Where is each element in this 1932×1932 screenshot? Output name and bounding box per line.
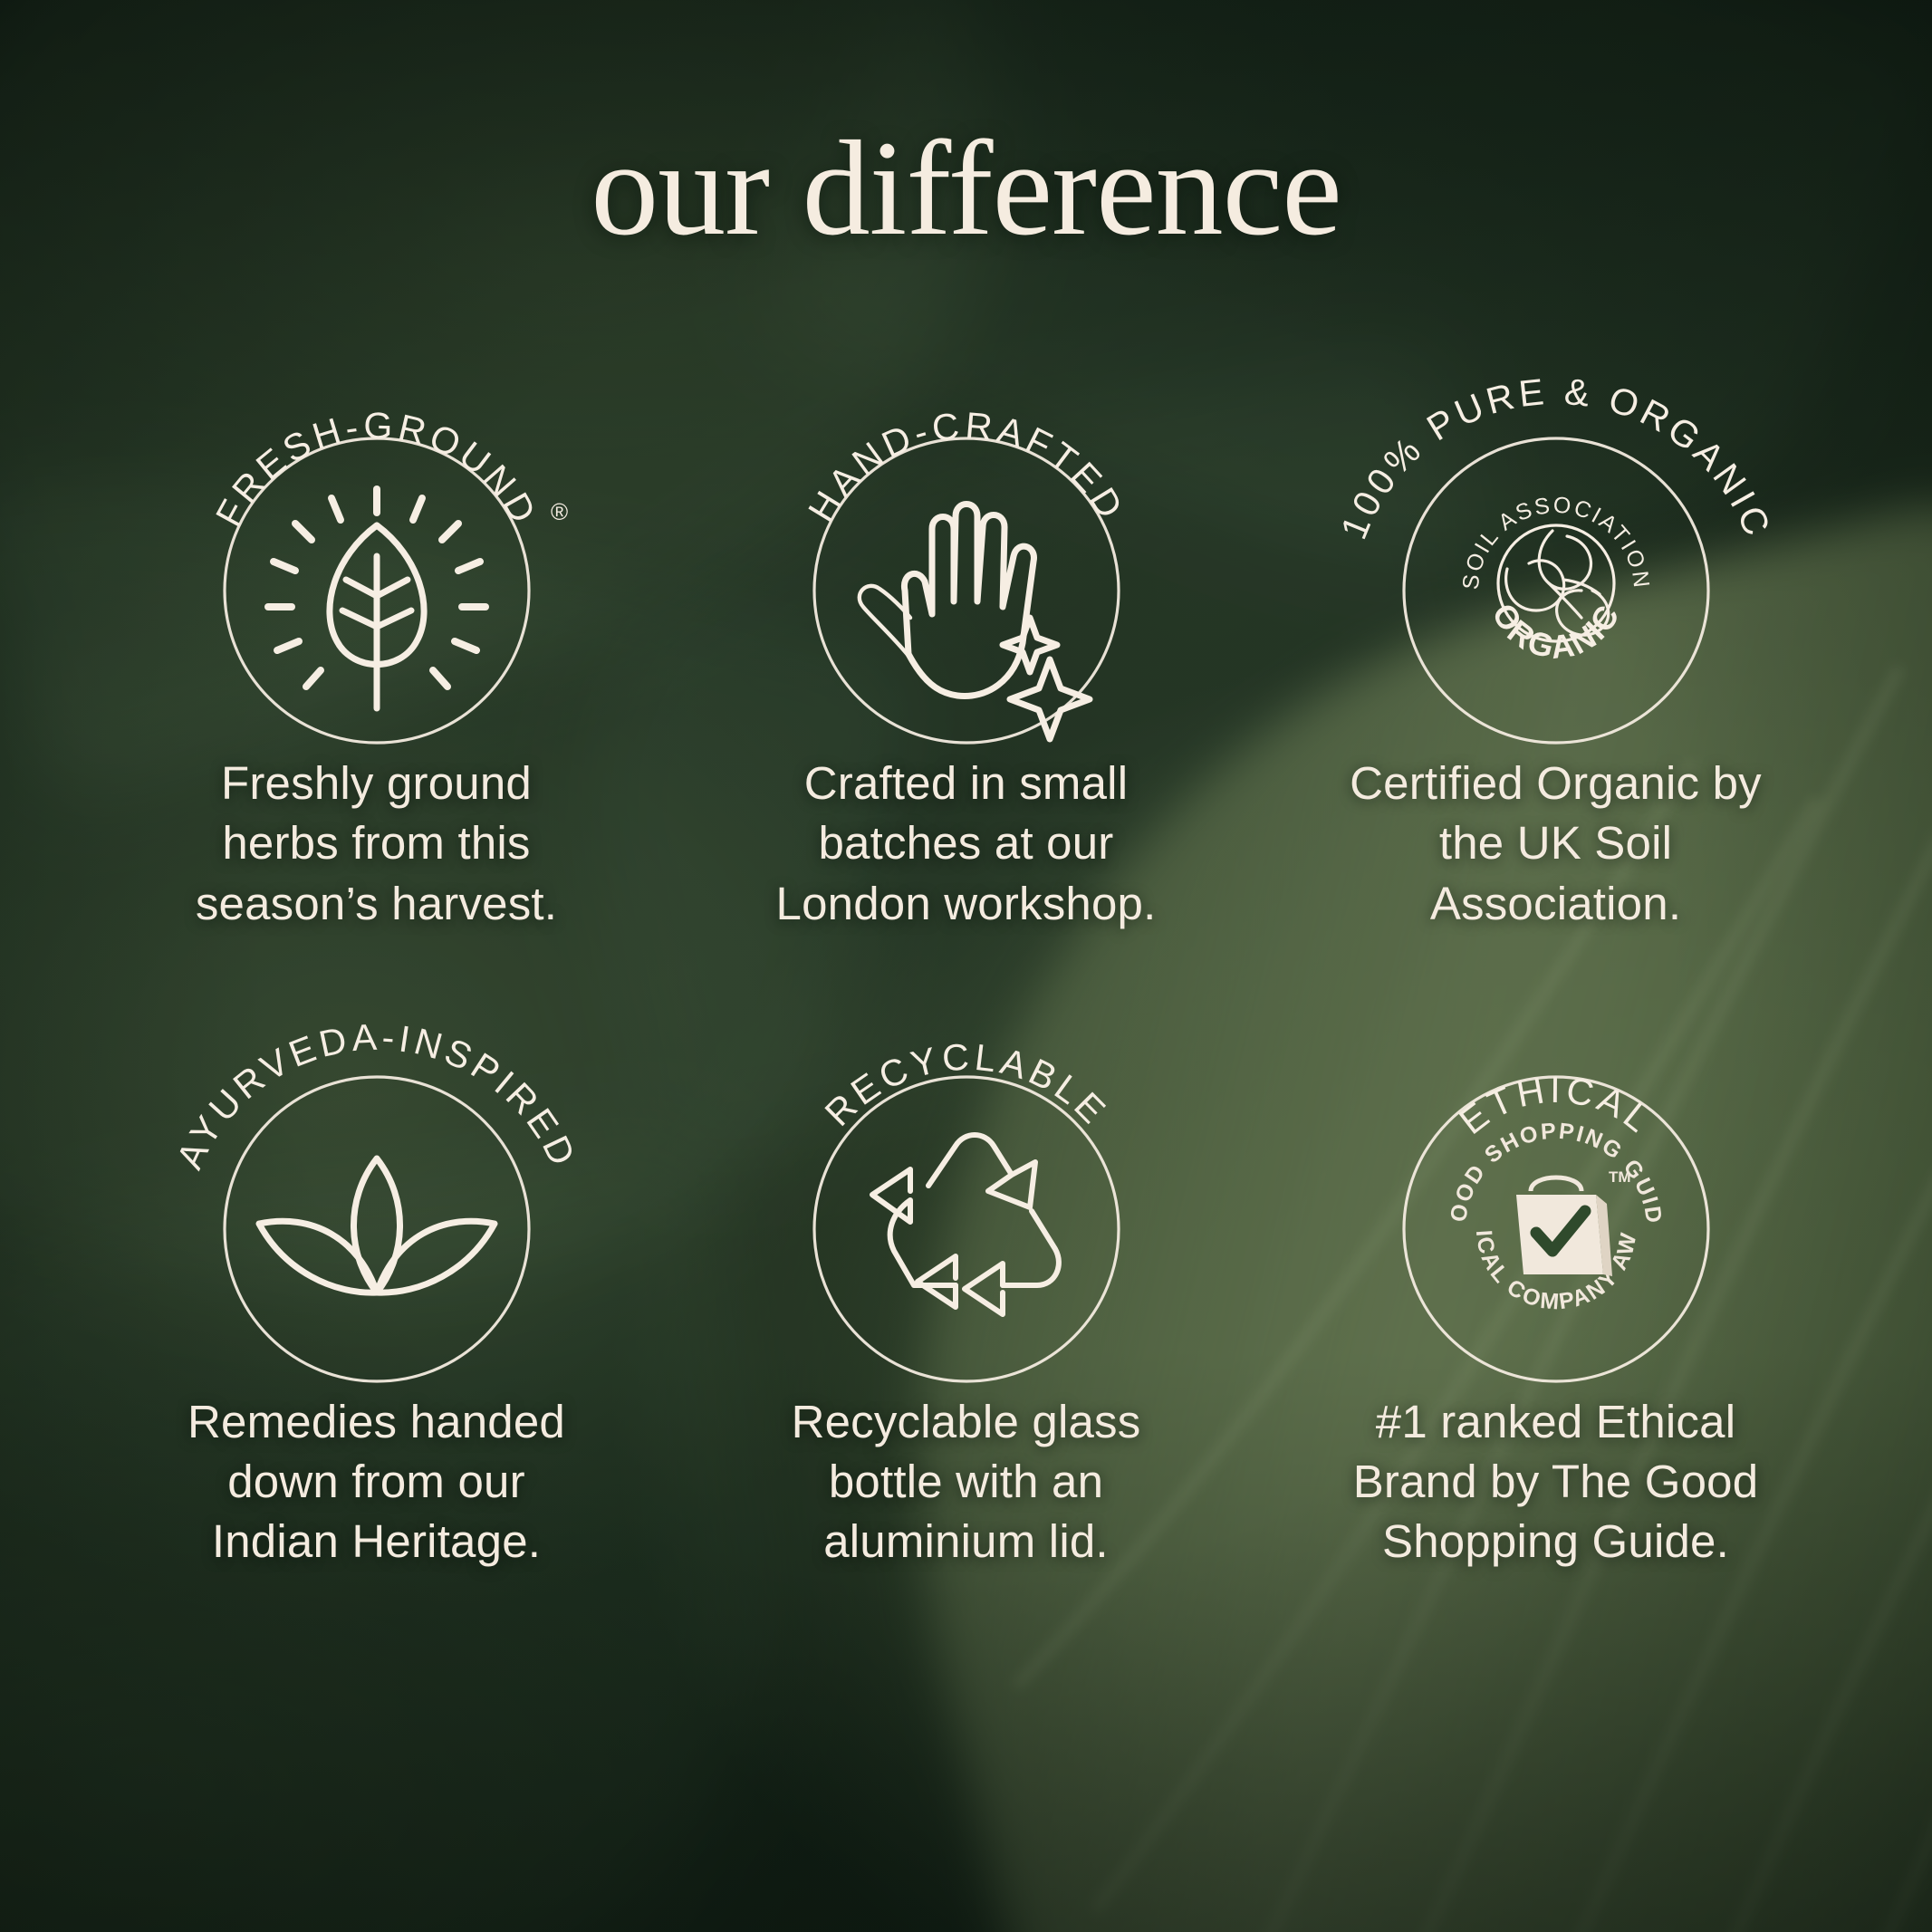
badge-cell-ethical: ETHICAL GOOD SHOPPING GUIDE TM ETHICAL C… xyxy=(1261,957,1850,1572)
badge-arc-label: HAND-CRAFTED xyxy=(800,404,1133,528)
our-difference-panel: our difference FRESH-GROUND ® xyxy=(0,0,1932,1932)
badge-arc-label: AYURVEDA-INSPIRED xyxy=(168,1015,584,1175)
registered-mark: ® xyxy=(551,498,568,525)
badge-caption: Remedies handed down from our Indian Her… xyxy=(168,1392,585,1572)
badge-cell-fresh-ground: FRESH-GROUND ® xyxy=(82,319,671,934)
badge-caption: Crafted in small batches at our London w… xyxy=(758,754,1175,934)
badge-caption: #1 ranked Ethical Brand by The Good Shop… xyxy=(1348,1392,1764,1572)
difference-badge-grid: FRESH-GROUND ® xyxy=(82,319,1850,1572)
soil-association-top-text: SOIL ASSOCIATION xyxy=(1457,492,1654,591)
lotus-leaf-icon xyxy=(259,1158,495,1293)
page-title: our difference xyxy=(0,120,1932,256)
badge-ethical[interactable]: ETHICAL GOOD SHOPPING GUIDE TM ETHICAL C… xyxy=(1321,957,1792,1383)
badge-recyclable[interactable]: RECYCLABLE xyxy=(731,957,1202,1383)
badge-caption: Freshly ground herbs from this season’s … xyxy=(168,754,585,934)
badge-fresh-ground[interactable]: FRESH-GROUND ® xyxy=(141,319,612,745)
badge-ayurveda-inspired[interactable]: AYURVEDA-INSPIRED xyxy=(141,957,612,1383)
badge-caption: Recyclable glass bottle with an aluminiu… xyxy=(758,1392,1175,1572)
recycling-arrows-icon xyxy=(872,1135,1059,1314)
open-hand-with-sparkles-icon xyxy=(859,505,1089,740)
badge-cell-recyclable: RECYCLABLE Recyclable glass bottle with … xyxy=(671,957,1261,1572)
badge-pure-organic[interactable]: 100% PURE & ORGANIC SOIL ASSOCIATION ORG… xyxy=(1321,319,1792,745)
soil-association-organic-logo-icon: SOIL ASSOCIATION ORGANIC xyxy=(1457,492,1654,666)
badge-hand-crafted[interactable]: HAND-CRAFTED xyxy=(731,319,1202,745)
badge-caption: Certified Organic by the UK Soil Associa… xyxy=(1348,754,1764,934)
badge-cell-hand-crafted: HAND-CRAFTED Crafted in small batches at… xyxy=(671,319,1261,934)
leaf-with-rays-icon xyxy=(268,489,485,708)
badge-ring xyxy=(814,1077,1119,1381)
badge-ring xyxy=(225,1077,529,1381)
badge-cell-pure-organic: 100% PURE & ORGANIC SOIL ASSOCIATION ORG… xyxy=(1261,319,1850,934)
badge-arc-label: 100% PURE & ORGANIC xyxy=(1332,370,1780,545)
badge-cell-ayurveda-inspired: AYURVEDA-INSPIRED Remedies handed down f… xyxy=(82,957,671,1572)
trademark-mark: TM xyxy=(1609,1168,1631,1186)
